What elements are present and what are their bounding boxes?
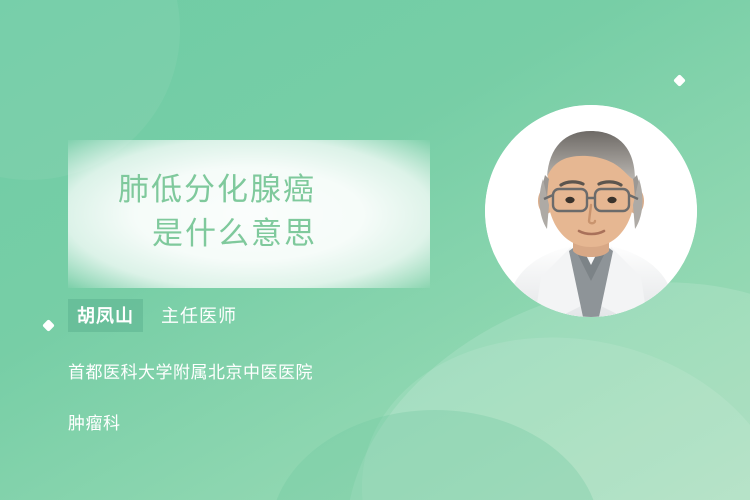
doctor-portrait-illustration <box>485 105 697 317</box>
sparkle-icon-left <box>42 319 55 332</box>
department-name: 肿瘤科 <box>68 409 468 434</box>
doctor-name: 胡凤山 <box>68 299 143 332</box>
title-line-2: 是什么意思 <box>68 212 430 256</box>
avatar <box>485 105 697 317</box>
title-line-1: 肺低分化腺癌 <box>68 168 430 212</box>
doctor-rank: 主任医师 <box>161 302 237 328</box>
doctor-info-card: 肺低分化腺癌 是什么意思 胡凤山 主任医师 首都医科大学附属北京中医医院 肿瘤科 <box>0 0 750 500</box>
title-panel: 肺低分化腺癌 是什么意思 <box>68 140 430 288</box>
doctor-meta: 胡凤山 主任医师 首都医科大学附属北京中医医院 肿瘤科 <box>68 300 468 434</box>
doctor-name-row: 胡凤山 主任医师 <box>68 300 468 330</box>
hospital-name: 首都医科大学附属北京中医医院 <box>68 358 468 383</box>
sparkle-icon-top-right <box>673 74 686 87</box>
